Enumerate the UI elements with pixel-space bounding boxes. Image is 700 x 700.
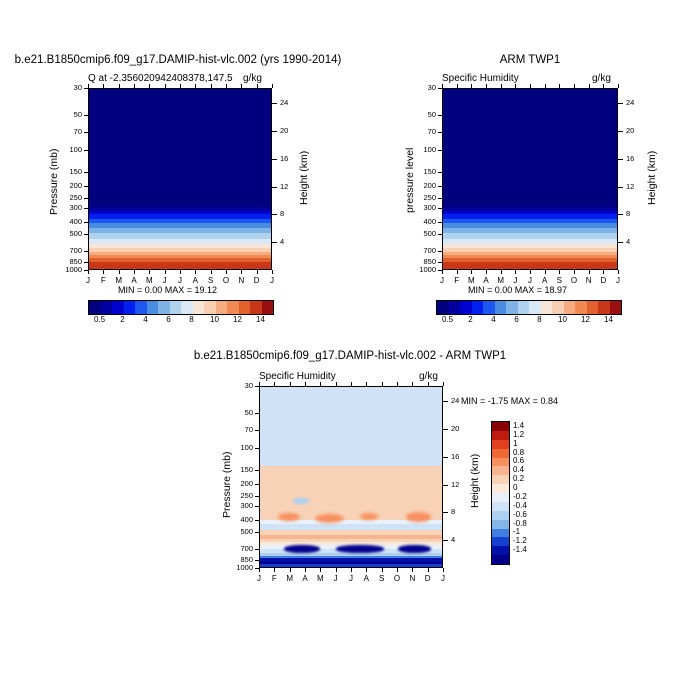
colorbar-cell	[529, 301, 541, 314]
colorbar-cell	[170, 301, 182, 314]
colorbar-tick-label: 6	[505, 315, 529, 324]
pressure-tick	[438, 198, 442, 199]
month-tick	[486, 270, 487, 274]
pressure-tick-label: 70	[406, 127, 436, 136]
month-tick-top	[119, 84, 120, 88]
pressure-tick-label: 70	[223, 425, 253, 434]
month-tick	[412, 568, 413, 572]
colorbar-cell	[495, 301, 507, 314]
month-tick	[272, 270, 273, 274]
month-tick	[366, 568, 367, 572]
month-tick	[149, 270, 150, 274]
model-panel-title: b.e21.B1850cmip6.f09_g17.DAMIP-hist-vlc.…	[0, 54, 356, 66]
colorbar-tick-label: 10	[551, 315, 575, 324]
month-tick-top	[259, 382, 260, 386]
month-tick-label: N	[405, 574, 419, 583]
month-tick-top	[241, 84, 242, 88]
pressure-tick-label: 1000	[406, 265, 436, 274]
height-tick	[618, 242, 623, 243]
pressure-tick-label: 300	[223, 501, 253, 510]
colorbar-tick-label: 2	[111, 315, 135, 324]
month-tick-label: J	[329, 574, 343, 583]
colorbar-tick-label: -0.4	[513, 501, 527, 510]
month-tick-top	[618, 84, 619, 88]
pressure-tick	[438, 150, 442, 151]
month-tick	[589, 270, 590, 274]
colorbar-cell	[250, 301, 262, 314]
month-tick-top	[574, 84, 575, 88]
height-tick-label: 16	[280, 154, 288, 163]
pressure-tick-label: 400	[223, 515, 253, 524]
month-tick-top	[88, 84, 89, 88]
model-contour-field	[89, 89, 271, 269]
pressure-tick	[255, 413, 259, 414]
pressure-tick	[438, 251, 442, 252]
month-tick-label: F	[450, 276, 464, 285]
month-tick-top	[366, 382, 367, 386]
month-tick-label: M	[283, 574, 297, 583]
month-tick-top	[305, 382, 306, 386]
month-tick-label: F	[267, 574, 281, 583]
pressure-tick	[84, 198, 88, 199]
height-tick	[443, 512, 448, 513]
pressure-tick	[84, 88, 88, 89]
colorbar-cell	[492, 555, 509, 564]
pressure-tick-label: 250	[52, 193, 82, 202]
month-tick	[257, 270, 258, 274]
pressure-tick-label: 30	[223, 381, 253, 390]
colorbar-cell	[492, 440, 509, 449]
colorbar-tick-label: 12	[226, 315, 250, 324]
obs-height-axis-label: Height (km)	[646, 151, 658, 205]
month-tick	[382, 568, 383, 572]
colorbar-cell	[492, 537, 509, 546]
month-tick-label: J	[344, 574, 358, 583]
pressure-tick-label: 400	[406, 217, 436, 226]
month-tick-label: O	[390, 574, 404, 583]
colorbar-cell	[449, 301, 461, 314]
month-tick-top	[180, 84, 181, 88]
month-tick	[443, 568, 444, 572]
colorbar-tick-label: 0.2	[513, 474, 524, 483]
colorbar-cell	[492, 458, 509, 467]
month-tick-label: S	[204, 276, 218, 285]
pressure-tick-label: 250	[406, 193, 436, 202]
diff-colorbar	[491, 421, 510, 565]
height-tick	[272, 131, 277, 132]
pressure-tick-label: 500	[406, 229, 436, 238]
month-tick	[259, 568, 260, 572]
model-colorbar	[88, 300, 274, 315]
month-tick-top	[471, 84, 472, 88]
height-tick	[272, 214, 277, 215]
colorbar-tick-label: 6	[157, 315, 181, 324]
height-tick	[443, 485, 448, 486]
month-tick	[530, 270, 531, 274]
month-tick	[165, 270, 166, 274]
diff-contour-field	[260, 387, 442, 567]
month-tick-top	[397, 382, 398, 386]
colorbar-cell	[460, 301, 472, 314]
height-tick-label: 12	[451, 480, 459, 489]
pressure-tick	[84, 262, 88, 263]
height-tick-label: 20	[280, 126, 288, 135]
pressure-tick	[438, 234, 442, 235]
colorbar-cell	[598, 301, 610, 314]
height-tick	[443, 540, 448, 541]
diff-panel-title: b.e21.B1850cmip6.f09_g17.DAMIP-hist-vlc.…	[170, 350, 530, 362]
colorbar-cell	[575, 301, 587, 314]
colorbar-tick-label: -0.6	[513, 510, 527, 519]
obs-colorbar	[436, 300, 622, 315]
month-tick-label: J	[173, 276, 187, 285]
height-tick-label: 4	[280, 237, 284, 246]
month-tick	[119, 270, 120, 274]
colorbar-cell	[492, 511, 509, 520]
month-tick-top	[165, 84, 166, 88]
diff-units-label: g/kg	[419, 371, 438, 382]
colorbar-tick-label: 0	[513, 483, 517, 492]
colorbar-cell	[472, 301, 484, 314]
pressure-tick-label: 30	[52, 83, 82, 92]
month-tick	[501, 270, 502, 274]
model-minmax-text: MIN = 0.00 MAX = 19.12	[118, 285, 217, 295]
height-tick-label: 8	[280, 209, 284, 218]
height-tick-label: 20	[626, 126, 634, 135]
month-tick-label: S	[375, 574, 389, 583]
month-tick	[274, 568, 275, 572]
month-tick	[574, 270, 575, 274]
height-tick-label: 24	[626, 98, 634, 107]
pressure-tick-label: 700	[52, 246, 82, 255]
colorbar-cell	[239, 301, 251, 314]
month-tick-label: D	[421, 574, 435, 583]
pressure-tick	[255, 549, 259, 550]
month-tick	[457, 270, 458, 274]
month-tick-top	[486, 84, 487, 88]
pressure-tick-label: 500	[223, 527, 253, 536]
month-tick	[618, 270, 619, 274]
diff-height-axis-label: Height (km)	[469, 454, 481, 508]
colorbar-cell	[181, 301, 193, 314]
pressure-tick	[438, 115, 442, 116]
pressure-tick-label: 300	[52, 203, 82, 212]
colorbar-tick-label: 8	[180, 315, 204, 324]
month-tick	[88, 270, 89, 274]
month-tick	[515, 270, 516, 274]
pressure-tick	[255, 430, 259, 431]
height-tick	[443, 401, 448, 402]
height-tick-label: 20	[451, 424, 459, 433]
obs-units-label: g/kg	[592, 73, 611, 84]
colorbar-tick-label: 14	[249, 315, 273, 324]
colorbar-tick-label: 8	[528, 315, 552, 324]
pressure-tick-label: 1000	[223, 563, 253, 572]
pressure-tick-label: 400	[52, 217, 82, 226]
height-tick	[443, 429, 448, 430]
month-tick	[211, 270, 212, 274]
month-tick-top	[336, 382, 337, 386]
month-tick-top	[559, 84, 560, 88]
height-tick	[618, 187, 623, 188]
pressure-tick-label: 700	[223, 544, 253, 553]
colorbar-cell	[483, 301, 495, 314]
height-tick	[272, 159, 277, 160]
pressure-tick	[255, 506, 259, 507]
height-tick	[443, 457, 448, 458]
month-tick	[241, 270, 242, 274]
month-tick-label: M	[494, 276, 508, 285]
month-tick-label: J	[81, 276, 95, 285]
pressure-tick	[438, 88, 442, 89]
height-tick	[618, 214, 623, 215]
pressure-tick-label: 50	[223, 408, 253, 417]
month-tick-top	[589, 84, 590, 88]
month-tick-top	[149, 84, 150, 88]
month-tick-label: F	[96, 276, 110, 285]
month-tick-top	[257, 84, 258, 88]
colorbar-cell	[492, 449, 509, 458]
colorbar-tick-label: -0.8	[513, 519, 527, 528]
month-tick	[134, 270, 135, 274]
pressure-tick	[255, 448, 259, 449]
month-tick-top	[272, 84, 273, 88]
month-tick-label: J	[523, 276, 537, 285]
pressure-tick-label: 1000	[52, 265, 82, 274]
height-tick	[618, 131, 623, 132]
month-tick-top	[134, 84, 135, 88]
month-tick-label: D	[596, 276, 610, 285]
pressure-tick-label: 150	[406, 167, 436, 176]
month-tick-label: N	[234, 276, 248, 285]
month-tick-label: J	[435, 276, 449, 285]
model-plot-area	[88, 88, 272, 270]
colorbar-tick-label: -1	[513, 527, 520, 536]
obs-contour-field	[443, 89, 617, 269]
month-tick-top	[412, 382, 413, 386]
month-tick-label: A	[188, 276, 202, 285]
colorbar-cell	[262, 301, 274, 314]
colorbar-tick-label: 0.6	[513, 456, 524, 465]
month-tick-top	[195, 84, 196, 88]
colorbar-tick-label: -0.2	[513, 492, 527, 501]
model-units-label: g/kg	[243, 73, 262, 84]
pressure-tick	[84, 222, 88, 223]
colorbar-cell	[492, 520, 509, 529]
month-tick-label: O	[219, 276, 233, 285]
month-tick	[545, 270, 546, 274]
colorbar-tick-label: 0.5	[436, 315, 460, 324]
pressure-tick	[255, 484, 259, 485]
colorbar-tick-label: 14	[597, 315, 621, 324]
colorbar-cell	[506, 301, 518, 314]
month-tick-label: A	[127, 276, 141, 285]
pressure-tick	[438, 186, 442, 187]
colorbar-cell	[135, 301, 147, 314]
colorbar-tick-label: 12	[574, 315, 598, 324]
colorbar-cell	[587, 301, 599, 314]
month-tick-top	[501, 84, 502, 88]
month-tick-top	[545, 84, 546, 88]
model-field-label: Q at -2.356020942408378,147.5	[88, 73, 233, 84]
pressure-tick	[84, 150, 88, 151]
pressure-tick	[84, 234, 88, 235]
pressure-tick	[255, 496, 259, 497]
height-tick	[272, 187, 277, 188]
pressure-tick-label: 70	[52, 127, 82, 136]
month-tick-label: J	[436, 574, 450, 583]
month-tick	[305, 568, 306, 572]
month-tick-label: A	[479, 276, 493, 285]
pressure-tick-label: 250	[223, 491, 253, 500]
height-tick	[272, 103, 277, 104]
pressure-tick-label: 30	[406, 83, 436, 92]
month-tick-top	[382, 382, 383, 386]
pressure-tick-label: 500	[52, 229, 82, 238]
month-tick-top	[290, 382, 291, 386]
pressure-tick	[84, 208, 88, 209]
colorbar-cell	[564, 301, 576, 314]
month-tick-top	[226, 84, 227, 88]
pressure-tick-label: 200	[52, 181, 82, 190]
colorbar-tick-label: 0.8	[513, 448, 524, 457]
pressure-tick	[255, 532, 259, 533]
month-tick-top	[428, 382, 429, 386]
month-tick	[442, 270, 443, 274]
obs-plot-area	[442, 88, 618, 270]
height-tick-label: 12	[280, 182, 288, 191]
colorbar-cell	[147, 301, 159, 314]
colorbar-cell	[492, 502, 509, 511]
diff-plot-area	[259, 386, 443, 568]
month-tick-label: J	[252, 574, 266, 583]
obs-field-label: Specific Humidity	[442, 73, 519, 84]
colorbar-cell	[518, 301, 530, 314]
model-height-axis-label: Height (km)	[298, 151, 310, 205]
month-tick	[471, 270, 472, 274]
month-tick-label: M	[112, 276, 126, 285]
colorbar-cell	[204, 301, 216, 314]
diff-field-label: Specific Humidity	[259, 371, 336, 382]
pressure-tick-label: 50	[406, 110, 436, 119]
month-tick-top	[603, 84, 604, 88]
colorbar-cell	[610, 301, 622, 314]
height-tick-label: 12	[626, 182, 634, 191]
pressure-tick-label: 100	[52, 145, 82, 154]
pressure-tick-label: 700	[406, 246, 436, 255]
colorbar-tick-label: 4	[134, 315, 158, 324]
pressure-tick-label: 100	[223, 443, 253, 452]
pressure-tick	[84, 251, 88, 252]
colorbar-cell	[89, 301, 101, 314]
colorbar-cell	[492, 466, 509, 475]
month-tick-label: J	[265, 276, 279, 285]
colorbar-tick-label: 1.2	[513, 430, 524, 439]
height-tick	[618, 159, 623, 160]
month-tick-label: D	[250, 276, 264, 285]
colorbar-cell	[193, 301, 205, 314]
month-tick-top	[211, 84, 212, 88]
pressure-tick-label: 100	[406, 145, 436, 154]
colorbar-tick-label: -1.2	[513, 536, 527, 545]
obs-panel-title: ARM TWP1	[400, 54, 660, 66]
month-tick-label: A	[298, 574, 312, 583]
pressure-tick	[438, 222, 442, 223]
pressure-tick-label: 300	[406, 203, 436, 212]
height-tick	[618, 103, 623, 104]
pressure-tick	[84, 115, 88, 116]
pressure-tick	[84, 172, 88, 173]
colorbar-tick-label: 2	[459, 315, 483, 324]
height-tick-label: 16	[626, 154, 634, 163]
month-tick	[397, 568, 398, 572]
pressure-tick	[255, 470, 259, 471]
month-tick-top	[103, 84, 104, 88]
height-tick	[272, 242, 277, 243]
month-tick-top	[515, 84, 516, 88]
month-tick-label: O	[567, 276, 581, 285]
month-tick	[180, 270, 181, 274]
month-tick	[103, 270, 104, 274]
month-tick-label: A	[538, 276, 552, 285]
height-tick-label: 24	[280, 98, 288, 107]
colorbar-cell	[492, 475, 509, 484]
height-tick-label: 8	[626, 209, 630, 218]
colorbar-cell	[112, 301, 124, 314]
colorbar-tick-label: 1.4	[513, 421, 524, 430]
colorbar-tick-label: 10	[203, 315, 227, 324]
pressure-tick-label: 50	[52, 110, 82, 119]
height-tick-label: 4	[451, 535, 455, 544]
pressure-tick	[84, 132, 88, 133]
month-tick	[226, 270, 227, 274]
month-tick-top	[530, 84, 531, 88]
month-tick	[320, 568, 321, 572]
month-tick	[428, 568, 429, 572]
colorbar-cell	[124, 301, 136, 314]
diff-minmax-text: MIN = -1.75 MAX = 0.84	[461, 396, 558, 406]
colorbar-cell	[227, 301, 239, 314]
pressure-tick-label: 200	[406, 181, 436, 190]
month-tick	[290, 568, 291, 572]
pressure-tick-label: 150	[52, 167, 82, 176]
pressure-tick	[255, 520, 259, 521]
month-tick-label: N	[582, 276, 596, 285]
month-tick-label: J	[611, 276, 625, 285]
month-tick-top	[457, 84, 458, 88]
month-tick-label: A	[359, 574, 373, 583]
colorbar-tick-label: 1	[513, 439, 517, 448]
month-tick	[195, 270, 196, 274]
colorbar-tick-label: -1.4	[513, 545, 527, 554]
colorbar-cell	[492, 546, 509, 555]
colorbar-cell	[552, 301, 564, 314]
colorbar-cell	[158, 301, 170, 314]
month-tick-label: M	[313, 574, 327, 583]
colorbar-cell	[437, 301, 449, 314]
colorbar-cell	[216, 301, 228, 314]
month-tick-label: M	[142, 276, 156, 285]
month-tick	[603, 270, 604, 274]
colorbar-tick-label: 0.4	[513, 465, 524, 474]
month-tick	[559, 270, 560, 274]
month-tick-top	[274, 382, 275, 386]
pressure-tick	[438, 208, 442, 209]
pressure-tick	[438, 262, 442, 263]
colorbar-cell	[541, 301, 553, 314]
month-tick-top	[443, 382, 444, 386]
month-tick-top	[442, 84, 443, 88]
